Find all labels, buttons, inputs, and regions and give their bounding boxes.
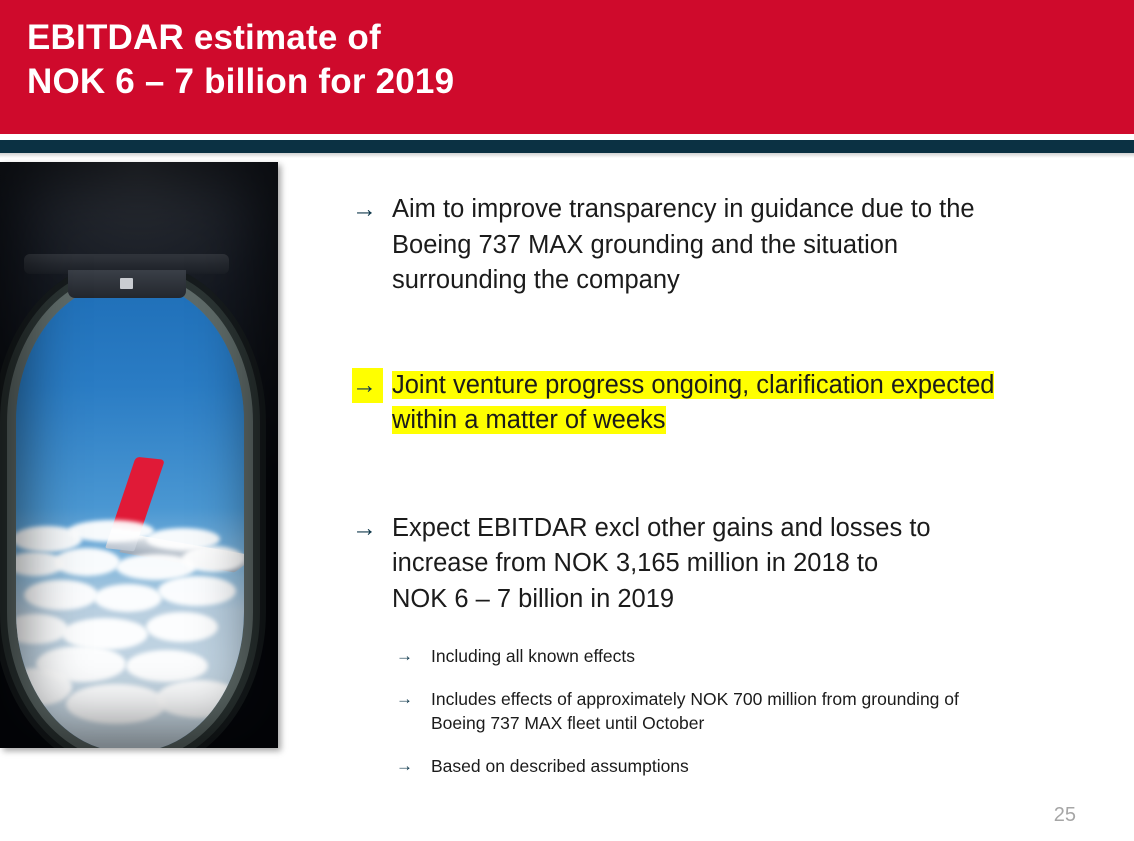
airplane-window-photo — [0, 162, 278, 748]
arrow-icon: → — [352, 192, 377, 228]
arrow-icon: → — [396, 644, 413, 669]
sub-bullet-list: → Including all known effects → Includes… — [352, 644, 1096, 778]
cloud-deck — [16, 518, 244, 748]
window-aperture — [16, 282, 244, 748]
arrow-icon: → — [352, 511, 377, 547]
arrow-icon: → — [396, 754, 413, 779]
bullet-item: → Expect EBITDAR excl other gains and lo… — [352, 511, 1096, 618]
bullet-text-highlighted: Joint venture progress ongoing, clarific… — [392, 371, 994, 435]
header-accent-rule — [0, 140, 1134, 153]
sub-bullet-item: → Includes effects of approximately NOK … — [396, 687, 1096, 736]
sub-bullet-item: → Including all known effects — [396, 644, 1096, 669]
sub-bullet-item: → Based on described assumptions — [396, 754, 1096, 779]
sub-bullet-text: Includes effects of approximately NOK 70… — [431, 689, 959, 734]
page-number: 25 — [1054, 804, 1076, 827]
sub-bullet-text: Including all known effects — [431, 646, 635, 666]
arrow-icon: → — [352, 368, 383, 404]
bullet-text: Aim to improve transparency in guidance … — [392, 195, 975, 294]
sub-bullet-text: Based on described assumptions — [431, 756, 689, 776]
arrow-icon: → — [396, 687, 413, 712]
page-title: EBITDAR estimate of NOK 6 – 7 billion fo… — [27, 16, 1087, 104]
bullet-text: Expect EBITDAR excl other gains and loss… — [392, 514, 931, 613]
bullet-item-highlighted: → Joint venture progress ongoing, clarif… — [352, 368, 1096, 439]
body-content: → Aim to improve transparency in guidanc… — [352, 192, 1096, 778]
header-rule-shadow — [0, 153, 1134, 158]
window-shade-tab — [68, 270, 186, 298]
bullet-item: → Aim to improve transparency in guidanc… — [352, 192, 1096, 299]
